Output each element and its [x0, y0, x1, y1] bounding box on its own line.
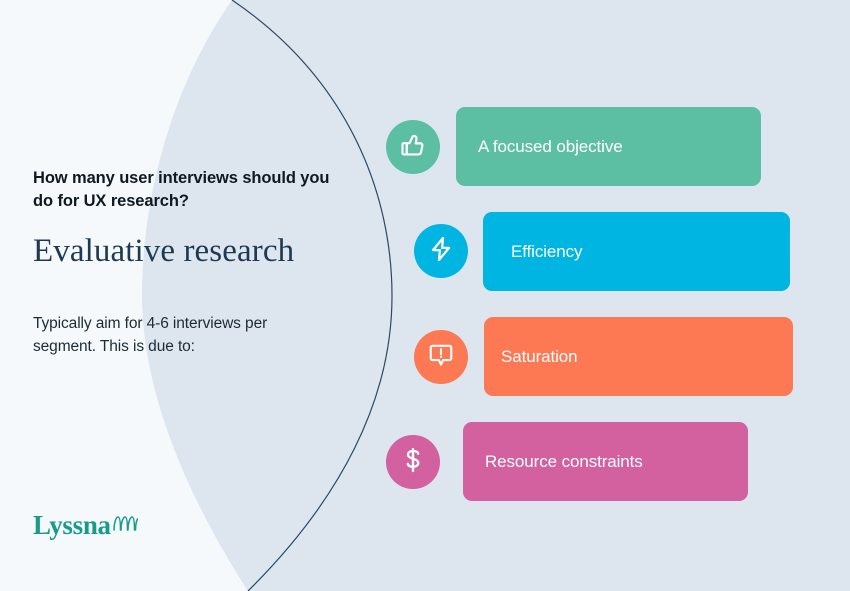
reason-bar-3[interactable]: Saturation: [484, 317, 793, 396]
lightning-bolt-icon: [426, 234, 456, 269]
reason-label-4: Resource constraints: [485, 452, 643, 472]
reason-icon-3-circle[interactable]: [414, 330, 468, 384]
reason-icon-4-circle[interactable]: [386, 435, 440, 489]
thumbs-up-icon: [398, 130, 428, 165]
wave-mark-icon: [112, 514, 138, 537]
left-text-column: How many user interviews should you do f…: [33, 0, 353, 591]
reason-bar-1[interactable]: A focused objective: [456, 107, 761, 186]
reason-bar-2[interactable]: Efficiency: [483, 212, 790, 291]
reason-label-1: A focused objective: [478, 137, 623, 157]
dollar-sign-icon: [398, 445, 428, 480]
reason-icon-2-circle[interactable]: [414, 224, 468, 278]
page-title: Evaluative research: [33, 233, 353, 270]
reason-icon-1-circle[interactable]: [386, 120, 440, 174]
infographic-canvas: How many user interviews should you do f…: [0, 0, 850, 591]
lyssna-logo: Lyssna: [33, 512, 138, 539]
reason-label-3: Saturation: [501, 347, 578, 367]
kicker-question: How many user interviews should you do f…: [33, 167, 343, 213]
alert-bubble-icon: [426, 340, 456, 375]
body-copy: Typically aim for 4-6 interviews per seg…: [33, 313, 308, 359]
reason-bar-4[interactable]: Resource constraints: [463, 422, 748, 501]
logo-wordmark: Lyssna: [33, 512, 111, 539]
reason-label-2: Efficiency: [511, 242, 582, 262]
